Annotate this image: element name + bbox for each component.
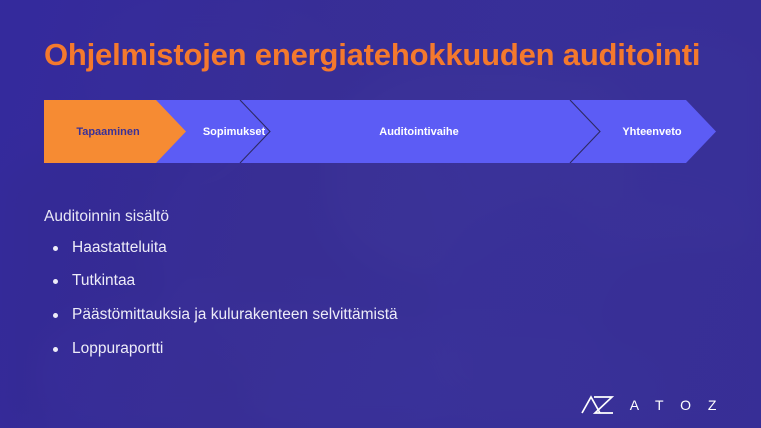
- slide: Ohjelmistojen energiatehokkuuden auditoi…: [0, 0, 761, 428]
- bullet-dot-icon: [53, 279, 58, 284]
- list-item: Tutkintaa: [44, 272, 604, 290]
- list-item: Loppuraportti: [44, 340, 604, 358]
- page-title: Ohjelmistojen energiatehokkuuden auditoi…: [44, 37, 700, 73]
- list-item-label: Loppuraportti: [72, 340, 163, 357]
- process-step-1-label: Tapaaminen: [76, 126, 139, 138]
- process-step-4[interactable]: Yhteenveto: [600, 100, 704, 163]
- list-item: Päästömittauksia ja kulurakenteen selvit…: [44, 306, 604, 324]
- process-step-2-label: Sopimukset: [203, 126, 265, 138]
- list-item-label: Tutkintaa: [72, 272, 135, 289]
- process-chevron-bar: Tapaaminen Sopimukset Auditointivaihe Yh…: [44, 100, 716, 163]
- content-bullet-list: Haastatteluita Tutkintaa Päästömittauksi…: [44, 239, 604, 358]
- list-item-label: Haastatteluita: [72, 239, 167, 256]
- process-step-2[interactable]: Sopimukset: [184, 100, 284, 163]
- bullet-dot-icon: [53, 246, 58, 251]
- list-item: Haastatteluita: [44, 239, 604, 257]
- az-monogram-icon: [581, 395, 615, 414]
- bullet-dot-icon: [53, 313, 58, 318]
- content-lead: Auditoinnin sisältö: [44, 208, 604, 227]
- logo-wordmark: A T O Z: [628, 398, 723, 412]
- process-step-4-label: Yhteenveto: [622, 126, 681, 138]
- logo: A T O Z: [581, 395, 723, 414]
- content-block: Auditoinnin sisältö Haastatteluita Tutki…: [44, 208, 604, 374]
- bullet-dot-icon: [53, 347, 58, 352]
- process-step-1[interactable]: Tapaaminen: [44, 100, 172, 163]
- process-step-3-label: Auditointivaihe: [379, 126, 458, 138]
- list-item-label: Päästömittauksia ja kulurakenteen selvit…: [72, 306, 398, 323]
- process-step-3[interactable]: Auditointivaihe: [334, 100, 504, 163]
